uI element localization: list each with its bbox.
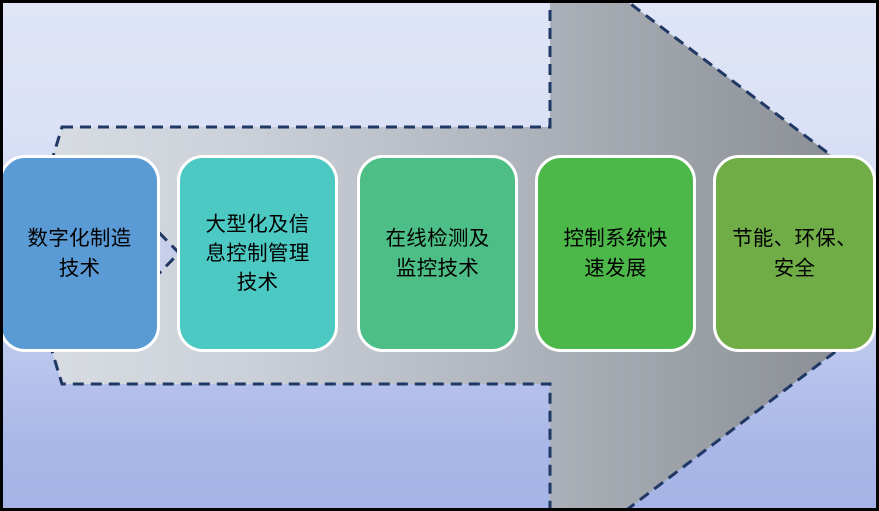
- step-box-large-scale-information-control[interactable]: 大型化及信 息控制管理 技术: [177, 155, 338, 352]
- step-box-online-detection-monitoring[interactable]: 在线检测及 监控技术: [357, 155, 518, 352]
- diagram-canvas: 数字化制造 技术 大型化及信 息控制管理 技术 在线检测及 监控技术 控制系统快…: [0, 0, 879, 511]
- step-label: 数字化制造 技术: [28, 224, 132, 282]
- step-label: 控制系统快 速发展: [564, 224, 668, 282]
- step-label: 大型化及信 息控制管理 技术: [206, 210, 310, 297]
- step-box-digital-manufacturing[interactable]: 数字化制造 技术: [3, 155, 160, 352]
- step-box-energy-saving-environmental-safety[interactable]: 节能、环保、 安全: [713, 155, 876, 352]
- step-box-control-system-rapid-development[interactable]: 控制系统快 速发展: [535, 155, 696, 352]
- slide-surface: 数字化制造 技术 大型化及信 息控制管理 技术 在线检测及 监控技术 控制系统快…: [3, 3, 876, 508]
- step-label: 节能、环保、 安全: [732, 224, 857, 282]
- step-label: 在线检测及 监控技术: [386, 224, 490, 282]
